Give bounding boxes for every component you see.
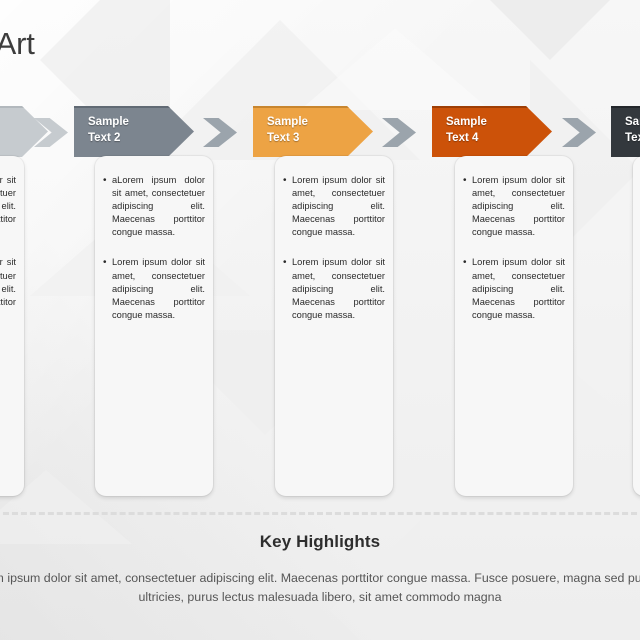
process-diagram: Sample Text 1Lorem ipsum dolor sit amet,… [0,0,640,505]
step-label-3: Sample Text 3 [267,115,373,146]
process-step-3[interactable]: Sample Text 3 [253,106,373,157]
step-chevron-1[interactable]: Sample Text 1 [0,106,48,157]
bullet-item: Lorem ipsum dolor sit amet, consectetuer… [461,256,565,321]
step-card-1[interactable]: Lorem ipsum dolor sit amet, consectetuer… [0,156,24,496]
step-card-4[interactable]: Lorem ipsum dolor sit amet, consectetuer… [455,156,573,496]
bullet-item: Lorem ipsum dolor sit amet, consectetuer… [0,174,16,239]
step-chevron-4[interactable]: Sample Text 4 [432,106,552,157]
step-connector-arrow-4 [562,118,596,147]
step-connector-arrow-3 [382,118,416,147]
step-bullet-list-2: aLorem ipsum dolor sit amet, consectetue… [101,174,205,322]
process-step-1[interactable]: Sample Text 1 [0,106,48,157]
step-bullet-list-3: Lorem ipsum dolor sit amet, consectetuer… [281,174,385,322]
process-step-4[interactable]: Sample Text 4 [432,106,552,157]
bullet-item: Lorem ipsum dolor sit amet, consectetuer… [281,174,385,239]
step-label-4: Sample Text 4 [446,115,552,146]
slide-canvas: SmartArt Sample Text 1Lorem ipsum dolor … [0,0,640,640]
key-highlights-body: Lorem ipsum dolor sit amet, consectetuer… [0,569,640,607]
step-connector-arrow-2 [203,118,237,147]
bullet-item: Lorem ipsum dolor sit amet, consectetuer… [101,256,205,321]
bullet-item: Lorem ipsum dolor sit amet, consectetuer… [461,174,565,239]
bullet-item: aLorem ipsum dolor sit amet, consectetue… [101,174,205,239]
step-chevron-3[interactable]: Sample Text 3 [253,106,373,157]
step-bullet-list-4: Lorem ipsum dolor sit amet, consectetuer… [461,174,565,322]
process-step-5[interactable]: Sample Text 5 [611,106,640,157]
step-label-2: Sample Text 2 [88,115,194,146]
step-card-2[interactable]: aLorem ipsum dolor sit amet, consectetue… [95,156,213,496]
bullet-item: Lorem ipsum dolor sit amet, consectetuer… [0,256,16,321]
step-chevron-5[interactable]: Sample Text 5 [611,106,640,157]
step-label-5: Sample Text 5 [625,115,640,146]
process-step-2[interactable]: Sample Text 2 [74,106,194,157]
step-chevron-2[interactable]: Sample Text 2 [74,106,194,157]
bullet-item: Lorem ipsum dolor sit amet, consectetuer… [281,256,385,321]
section-divider [0,512,640,515]
step-bullet-list-1: Lorem ipsum dolor sit amet, consectetuer… [0,174,16,322]
step-card-3[interactable]: Lorem ipsum dolor sit amet, consectetuer… [275,156,393,496]
step-card-5[interactable]: Lorem ipsum dolor sit amet, consectetuer… [633,156,640,496]
key-highlights-heading: Key Highlights [0,532,640,552]
